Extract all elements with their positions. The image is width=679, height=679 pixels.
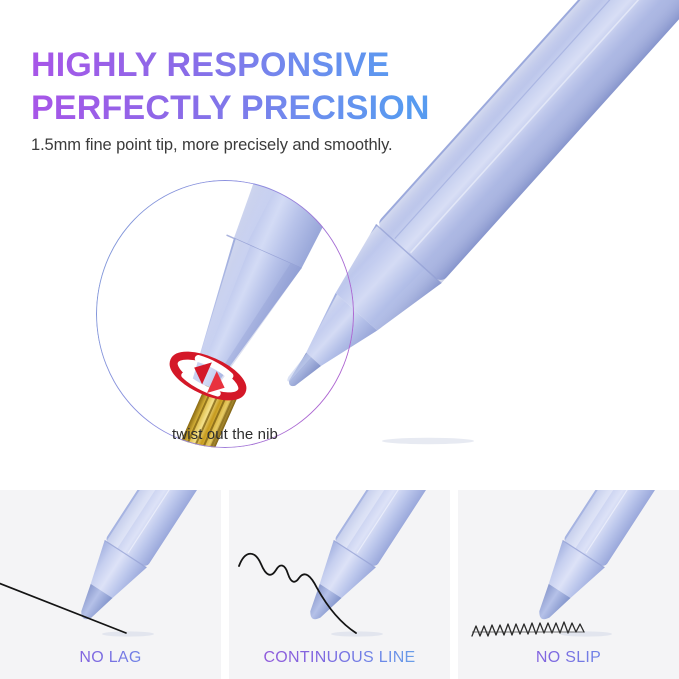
subtitle-text: 1.5mm fine point tip, more precisely and… <box>31 136 393 155</box>
no-slip-illustration <box>458 490 679 640</box>
feature-panel-no-slip[interactable]: NO SLIP <box>458 490 679 679</box>
hero-section: HIGHLY RESPONSIVE PERFECTLY PRECISION 1.… <box>0 0 679 488</box>
no-lag-illustration <box>0 490 221 640</box>
panel-label-continuous-line: CONTINUOUS LINE <box>229 649 450 667</box>
magnifier-circle: twist out the nib <box>96 180 354 448</box>
panel-label-no-slip: NO SLIP <box>458 649 679 667</box>
headline-line-2: PERFECTLY PRECISION <box>31 87 461 130</box>
panel-label-no-lag: NO LAG <box>0 649 221 667</box>
headline-line-1: HIGHLY RESPONSIVE <box>31 44 461 87</box>
product-feature-image: HIGHLY RESPONSIVE PERFECTLY PRECISION 1.… <box>0 0 679 679</box>
feature-panel-continuous-line[interactable]: CONTINUOUS LINE <box>229 490 450 679</box>
magnifier-ring-border <box>96 180 354 448</box>
continuous-line-illustration <box>229 490 450 640</box>
feature-panels-row: NO LAG <box>0 490 679 679</box>
twist-out-nib-caption: twist out the nib <box>96 426 354 443</box>
feature-panel-no-lag[interactable]: NO LAG <box>0 490 221 679</box>
headline-block: HIGHLY RESPONSIVE PERFECTLY PRECISION <box>31 44 461 130</box>
